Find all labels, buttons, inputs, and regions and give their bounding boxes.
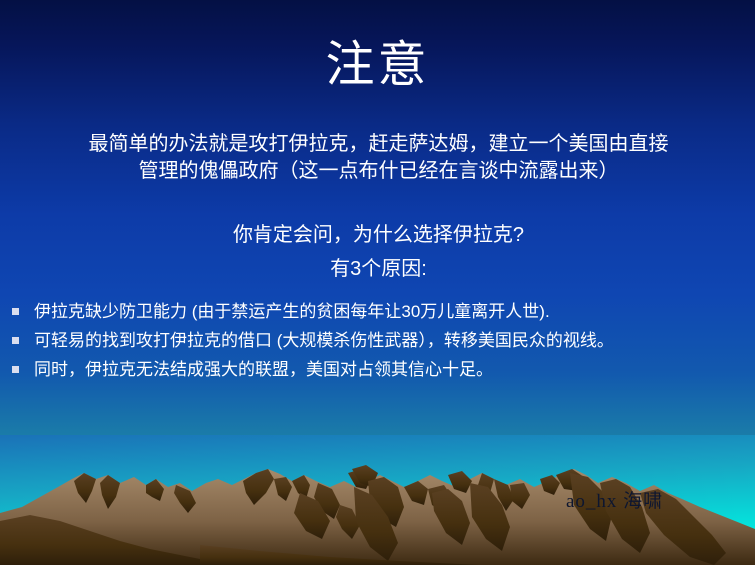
intro-line-2: 管理的傀儡政府（这一点布什已经在言谈中流露出来） (10, 158, 747, 185)
list-item: 可轻易的找到攻打伊拉克的借口 (大规模杀伤性武器），转移美国民众的视线。 (8, 328, 748, 353)
author-signature: ao_hx 海啸 (566, 486, 663, 513)
question-line: 你肯定会问，为什么选择伊拉克? (10, 222, 747, 249)
list-item: 同时，伊拉克无法结成强大的联盟，美国对占领其信心十足。 (8, 357, 748, 382)
list-item-text: 同时，伊拉克无法结成强大的联盟，美国对占领其信心十足。 (34, 357, 748, 382)
intro-line-1: 最简单的办法就是攻打伊拉克，赶走萨达姆，建立一个美国由直接 (10, 131, 747, 158)
reasons-bullet-list: 伊拉克缺少防卫能力 (由于禁运产生的贫困每年让30万儿童离开人世). 可轻易的找… (8, 299, 748, 386)
reasons-header: 有3个原因: (10, 256, 747, 283)
intro-paragraph: 最简单的办法就是攻打伊拉克，赶走萨达姆，建立一个美国由直接 管理的傀儡政府（这一… (10, 131, 747, 185)
list-item: 伊拉克缺少防卫能力 (由于禁运产生的贫困每年让30万儿童离开人世). (8, 299, 748, 324)
square-bullet-icon (12, 308, 19, 315)
square-bullet-icon (12, 366, 19, 373)
list-item-text: 可轻易的找到攻打伊拉克的借口 (大规模杀伤性武器），转移美国民众的视线。 (34, 328, 748, 353)
slide-title: 注意 (0, 36, 755, 94)
presentation-slide: 注意 最简单的办法就是攻打伊拉克，赶走萨达姆，建立一个美国由直接 管理的傀儡政府… (0, 0, 755, 565)
list-item-text: 伊拉克缺少防卫能力 (由于禁运产生的贫困每年让30万儿童离开人世). (34, 299, 748, 324)
square-bullet-icon (12, 337, 19, 344)
